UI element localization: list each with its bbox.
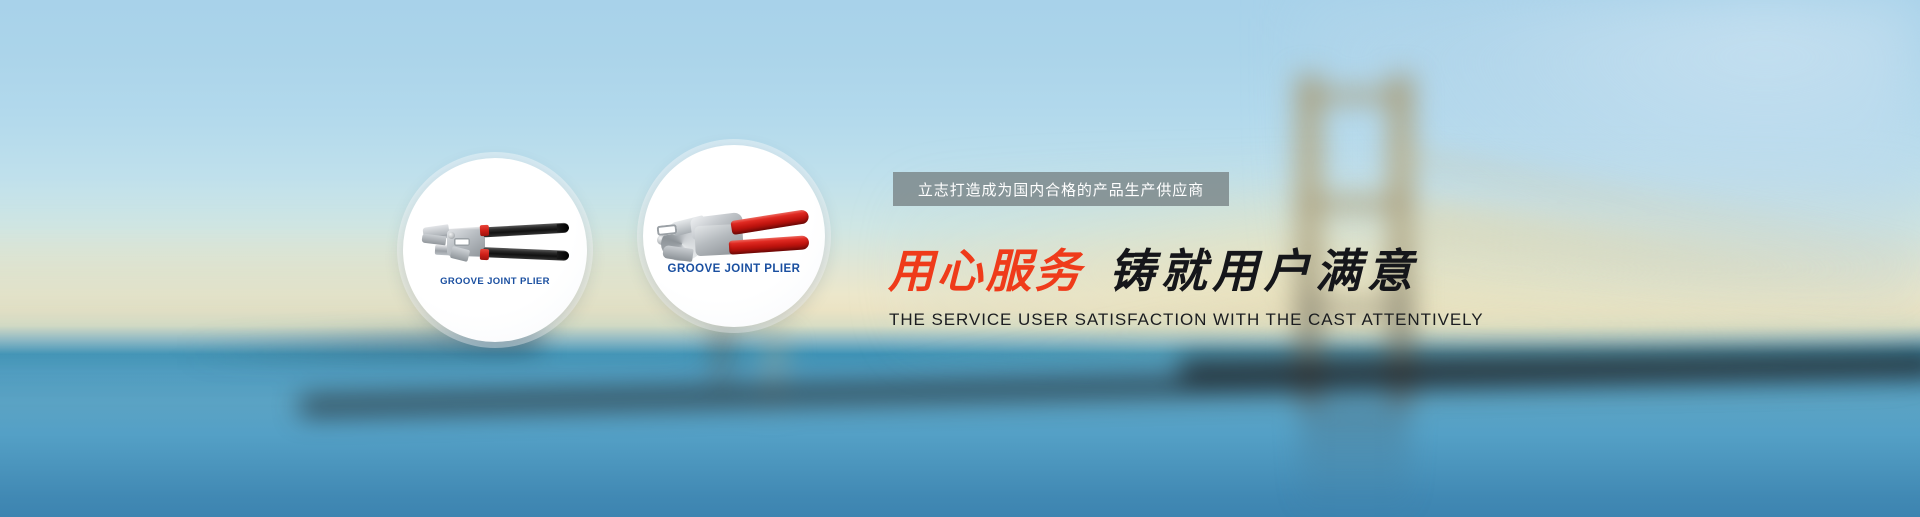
slogan-banner-text: 立志打造成为国内合格的产品生产供应商 (918, 179, 1204, 200)
product-label-2: GROOVE JOINT PLIER (643, 263, 825, 275)
bridge-cable-right-lower (1417, 200, 1919, 307)
bridge-pier (712, 330, 732, 390)
plier-handle-bottom (483, 247, 569, 261)
hero-banner: GROOVE JOINT PLIER GROOVE JOINT PLIER 立志… (0, 0, 1920, 517)
headline-english-subtitle: THE SERVICE USER SATISFACTION WITH THE C… (889, 310, 1484, 330)
headline-red-text: 用心服务 (888, 244, 1083, 298)
plier-groove-slot (454, 238, 470, 246)
groove-joint-plier-black-icon (421, 218, 573, 270)
groove-joint-plier-red-icon (657, 203, 815, 263)
headline-black-text: 铸就用户满意 (1109, 244, 1418, 298)
bridge-tower-reflection (1300, 404, 1410, 517)
plier-red-band-bottom (480, 248, 489, 259)
product-label-1: GROOVE JOINT PLIER (403, 276, 587, 287)
plier-pivot-rivet (448, 232, 455, 239)
plier-handle-top (730, 209, 809, 235)
plier-jaw-lower (422, 234, 447, 246)
headline: 用心服务铸就用户满意 (888, 248, 1418, 294)
plier-groove-slot (657, 224, 678, 236)
product-circle-2[interactable]: GROOVE JOINT PLIER (643, 145, 825, 327)
bridge-tower-crossbeam-top (1296, 88, 1414, 104)
plier-jaw-lower (662, 245, 694, 262)
slogan-banner: 立志打造成为国内合格的产品生产供应商 (893, 172, 1229, 206)
plier-handle-top (483, 223, 569, 238)
product-circle-1[interactable]: GROOVE JOINT PLIER (403, 158, 587, 342)
plier-red-band-top (480, 224, 490, 235)
bridge-tower-crossbeam-middle (1296, 196, 1414, 212)
